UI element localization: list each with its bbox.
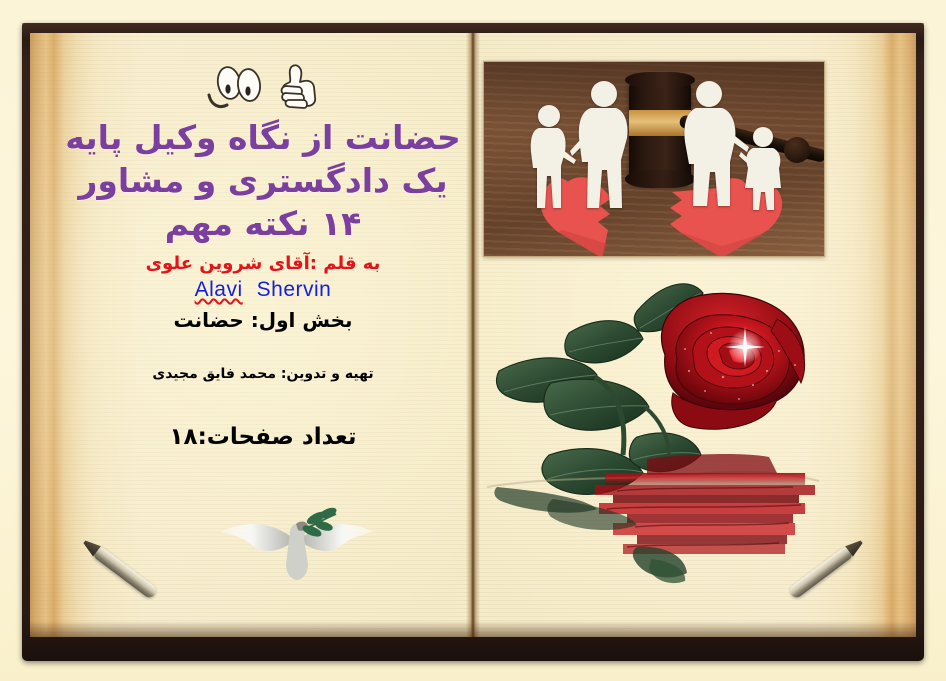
open-book-pages: حضانت از نگاه وکیل پایه یک دادگستری و مش… [30, 33, 916, 637]
cartoon-eyes-icon [205, 65, 263, 113]
child-custody-photo [483, 61, 825, 257]
page-title: حضانت از نگاه وکیل پایه یک دادگستری و مش… [63, 117, 463, 246]
page-bottom-shadow [30, 621, 916, 637]
editor-credit: تهیه و تدوین: محمد فایق مجیدی [63, 366, 463, 382]
paper-figure-girl [739, 126, 789, 216]
rose-illustration [477, 259, 827, 589]
paper-figure-boy [524, 104, 576, 216]
red-rose-graphic [477, 259, 827, 589]
author-byline: به قلم :آقای شروین علوی [63, 252, 463, 275]
author-latin-firstname: Shervin [257, 278, 332, 301]
title-line-2: یک دادگستری و مشاور [63, 160, 463, 203]
author-latin-name: AlaviShervin [63, 278, 463, 302]
right-page [473, 33, 916, 637]
title-line-1: حضانت از نگاه وکیل پایه [63, 117, 463, 160]
section-line: بخش اول: حضانت [63, 308, 463, 332]
paper-figure-father [570, 80, 640, 216]
title-line-3: ۱۴ نکته مهم [63, 203, 463, 246]
left-page: حضانت از نگاه وکیل پایه یک دادگستری و مش… [30, 33, 473, 637]
author-latin-surname: Alavi [195, 278, 243, 301]
page-count: تعداد صفحات:۱۸ [63, 424, 463, 450]
book-spine-gutter [466, 33, 480, 637]
title-text-column: حضانت از نگاه وکیل پایه یک دادگستری و مش… [63, 55, 463, 450]
thumbs-up-icon [277, 61, 321, 113]
peace-dove-icon [212, 498, 382, 584]
slide-canvas: حضانت از نگاه وکیل پایه یک دادگستری و مش… [0, 0, 946, 681]
decorative-icon-row [63, 55, 463, 113]
